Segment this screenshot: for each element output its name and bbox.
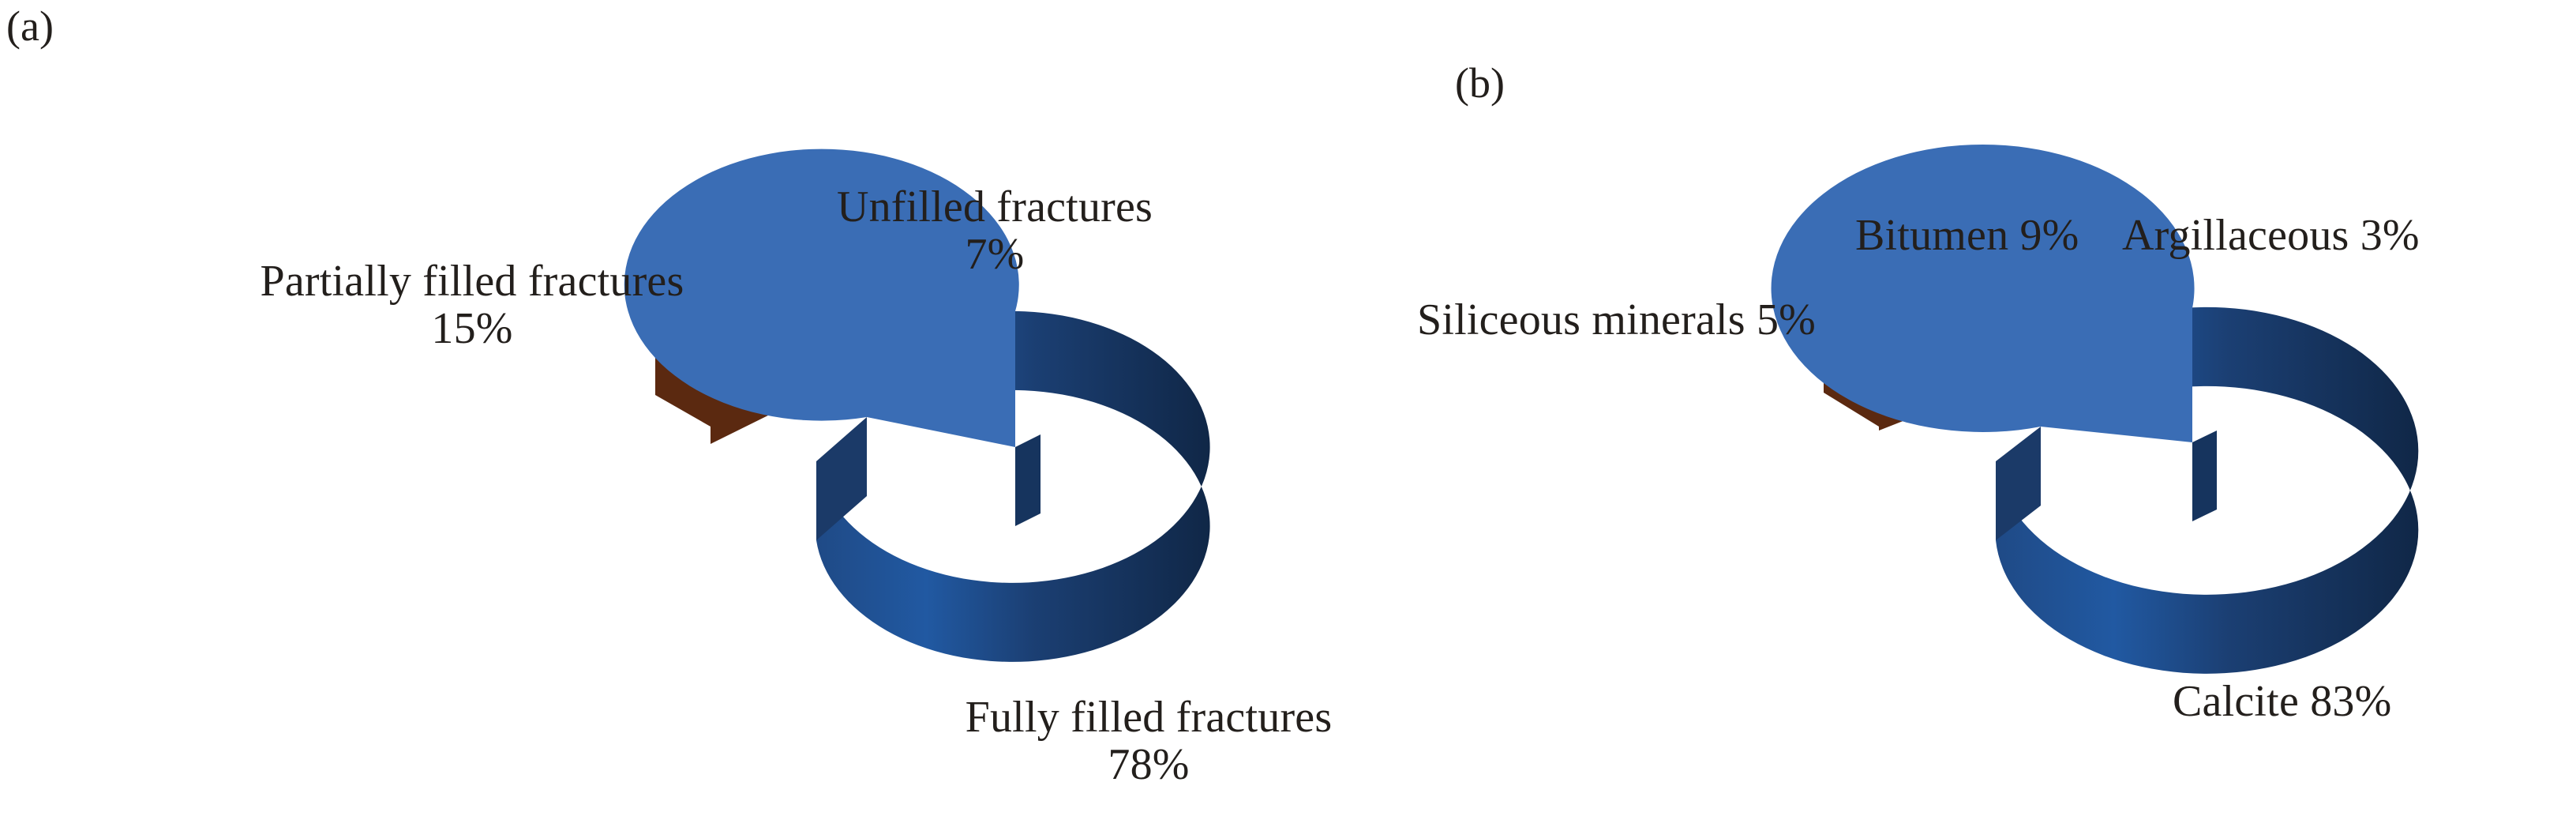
label-fully-filled-fractures: Fully filled fractures 78% [904,694,1393,789]
label-fully-filled-percent: 78% [904,741,1393,788]
label-calcite: Calcite 83% [2173,678,2391,725]
slice-fully-side-notch2 [1015,434,1041,526]
figure-canvas: (a) (b) [0,0,2576,816]
label-partially-filled-percent: 15% [188,305,756,352]
label-partially-filled-text: Partially filled fractures [261,257,684,306]
label-siliceous-minerals: Siliceous minerals 5% [1417,296,1816,344]
label-unfilled-percent: 7% [789,231,1200,278]
label-unfilled-fractures: Unfilled fractures 7% [789,183,1200,279]
label-unfilled-text: Unfilled fractures [837,182,1153,231]
label-bitumen: Bitumen 9% [1855,212,2079,259]
slice-calcite-side-notch2 [2192,431,2217,521]
label-fully-filled-text: Fully filled fractures [966,693,1333,742]
label-argillaceous: Argillaceous 3% [2122,212,2420,259]
label-partially-filled-fractures: Partially filled fractures 15% [188,258,756,353]
